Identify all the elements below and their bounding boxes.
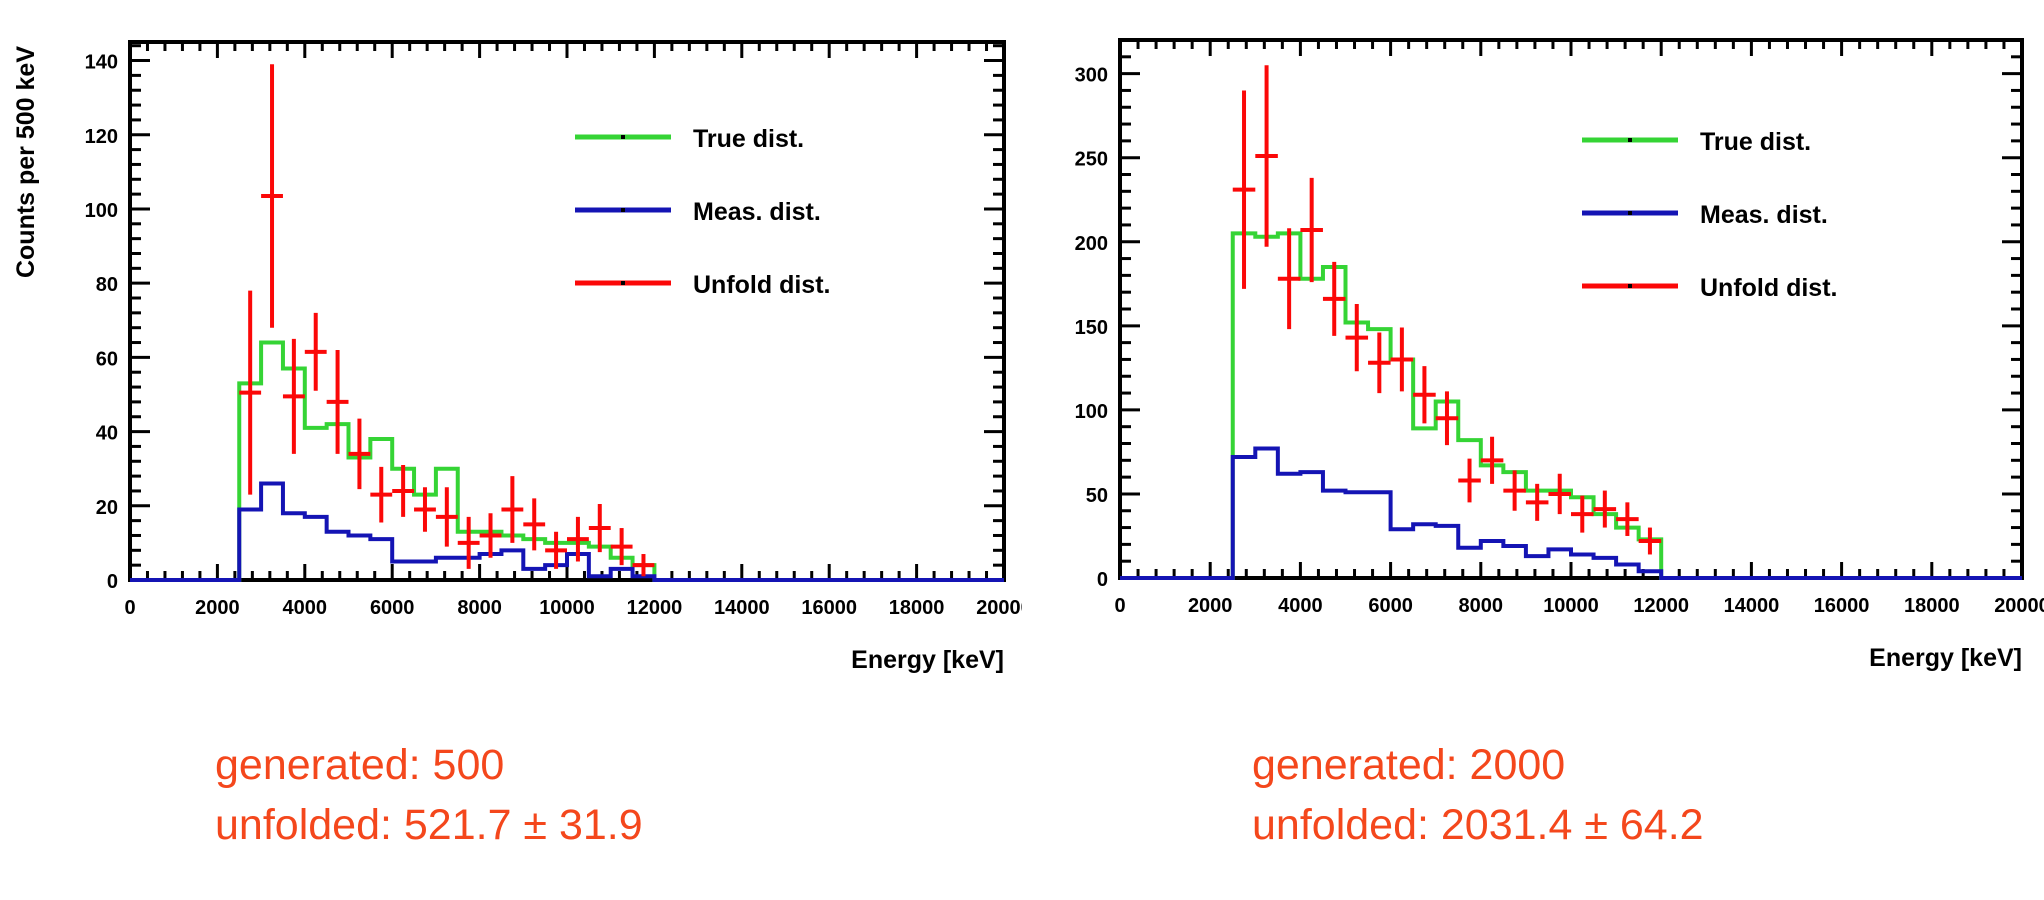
legend-label: Unfold dist. [693,271,830,299]
x-tick-label: 8000 [457,597,502,619]
figure-root: 0200040006000800010000120001400016000180… [0,0,2044,900]
y-tick-label: 20 [96,497,118,519]
legend-marker-dot [1628,284,1632,288]
legend-label: Meas. dist. [693,198,821,226]
panel-right: 0200040006000800010000120001400016000180… [1022,0,2044,900]
legend-label: Meas. dist. [1700,201,1828,229]
legend-label: Unfold dist. [1700,274,1837,302]
y-tick-label: 140 [85,52,118,74]
x-tick-label: 18000 [889,597,945,619]
x-tick-label: 12000 [1633,595,1689,617]
x-tick-label: 6000 [370,597,415,619]
y-tick-label: 200 [1075,233,1108,255]
y-tick-label: 80 [96,274,118,296]
legend-marker-dot [1628,138,1632,142]
legend-marker-dot [621,208,625,212]
plot-left: 0200040006000800010000120001400016000180… [0,0,1022,700]
x-tick-label: 18000 [1904,595,1960,617]
legend-marker-dot [621,281,625,285]
x-tick-label: 20000 [976,597,1022,619]
caption-generated-right: generated: 2000 [1252,735,2044,795]
x-tick-label: 2000 [1188,595,1233,617]
y-tick-label: 50 [1086,485,1108,507]
x-tick-label: 0 [124,597,135,619]
x-tick-label: 4000 [1278,595,1323,617]
x-tick-label: 16000 [1814,595,1870,617]
x-tick-label: 0 [1114,595,1125,617]
y-tick-label: 120 [85,126,118,148]
caption-right: generated: 2000 unfolded: 2031.4 ± 64.2 [1252,735,2044,855]
y-tick-label: 60 [96,348,118,370]
y-tick-label: 250 [1075,149,1108,171]
y-axis-title: Counts per 500 keV [12,46,40,278]
y-tick-label: 40 [96,423,118,445]
legend-label: True dist. [1700,128,1811,156]
x-tick-label: 10000 [539,597,595,619]
y-tick-label: 300 [1075,65,1108,87]
panel-left: 0200040006000800010000120001400016000180… [0,0,1022,900]
legend-marker-dot [621,135,625,139]
y-tick-label: 100 [85,200,118,222]
x-tick-label: 20000 [1994,595,2044,617]
x-tick-label: 12000 [627,597,683,619]
legend-marker-dot [1628,211,1632,215]
legend-label: True dist. [693,125,804,153]
y-tick-label: 0 [1097,569,1108,591]
y-tick-label: 100 [1075,401,1108,423]
y-tick-label: 150 [1075,317,1108,339]
x-tick-label: 14000 [1724,595,1780,617]
x-tick-label: 4000 [283,597,328,619]
x-tick-label: 14000 [714,597,770,619]
x-tick-label: 10000 [1543,595,1599,617]
x-tick-label: 6000 [1368,595,1413,617]
x-tick-label: 8000 [1459,595,1504,617]
plot-right: 0200040006000800010000120001400016000180… [1022,0,2044,700]
x-axis-title: Energy [keV] [851,646,1004,674]
x-tick-label: 2000 [195,597,240,619]
x-axis-title: Energy [keV] [1869,644,2022,672]
x-tick-label: 16000 [801,597,857,619]
caption-unfolded-right: unfolded: 2031.4 ± 64.2 [1252,795,2044,855]
y-tick-label: 0 [107,571,118,593]
